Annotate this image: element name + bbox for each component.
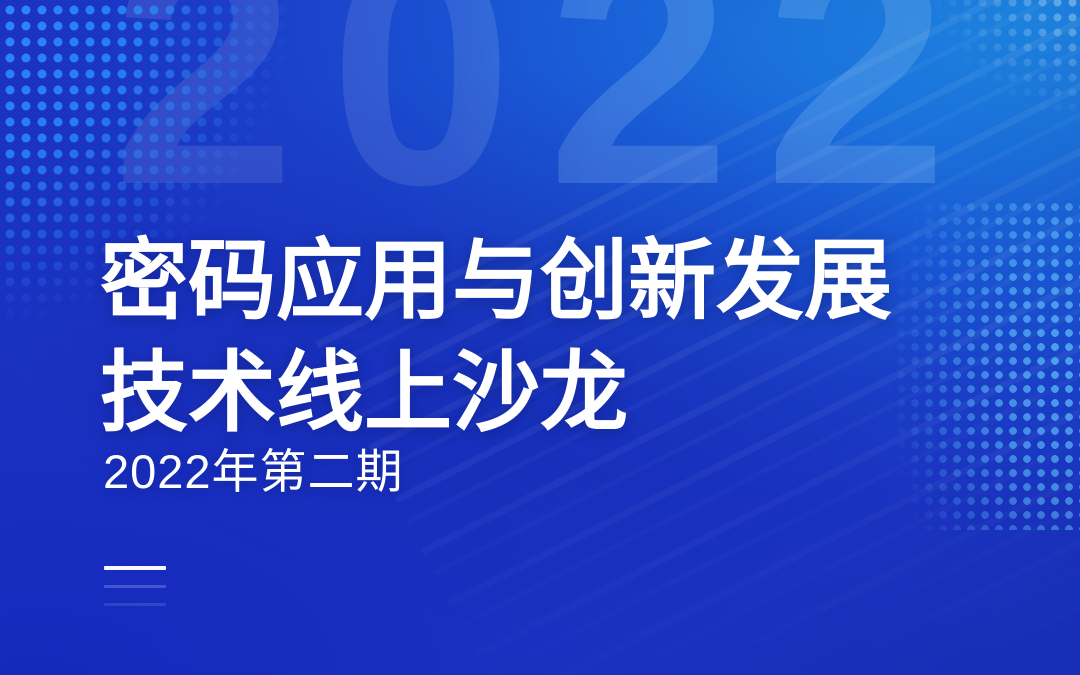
- poster-content: 密码应用与创新发展 技术线上沙龙 2022年第二期: [0, 0, 1080, 675]
- page-title: 密码应用与创新发展 技术线上沙龙: [100, 225, 892, 449]
- divider-rule-group: [104, 566, 166, 606]
- divider-rule-tertiary: [104, 603, 166, 606]
- page-title-line-1: 密码应用与创新发展: [100, 225, 892, 337]
- divider-rule-primary: [104, 566, 166, 570]
- event-poster: 2022 2022: [0, 0, 1080, 675]
- divider-rule-secondary: [104, 585, 166, 588]
- page-subtitle: 2022年第二期: [103, 443, 404, 501]
- page-title-line-2: 技术线上沙龙: [100, 337, 892, 449]
